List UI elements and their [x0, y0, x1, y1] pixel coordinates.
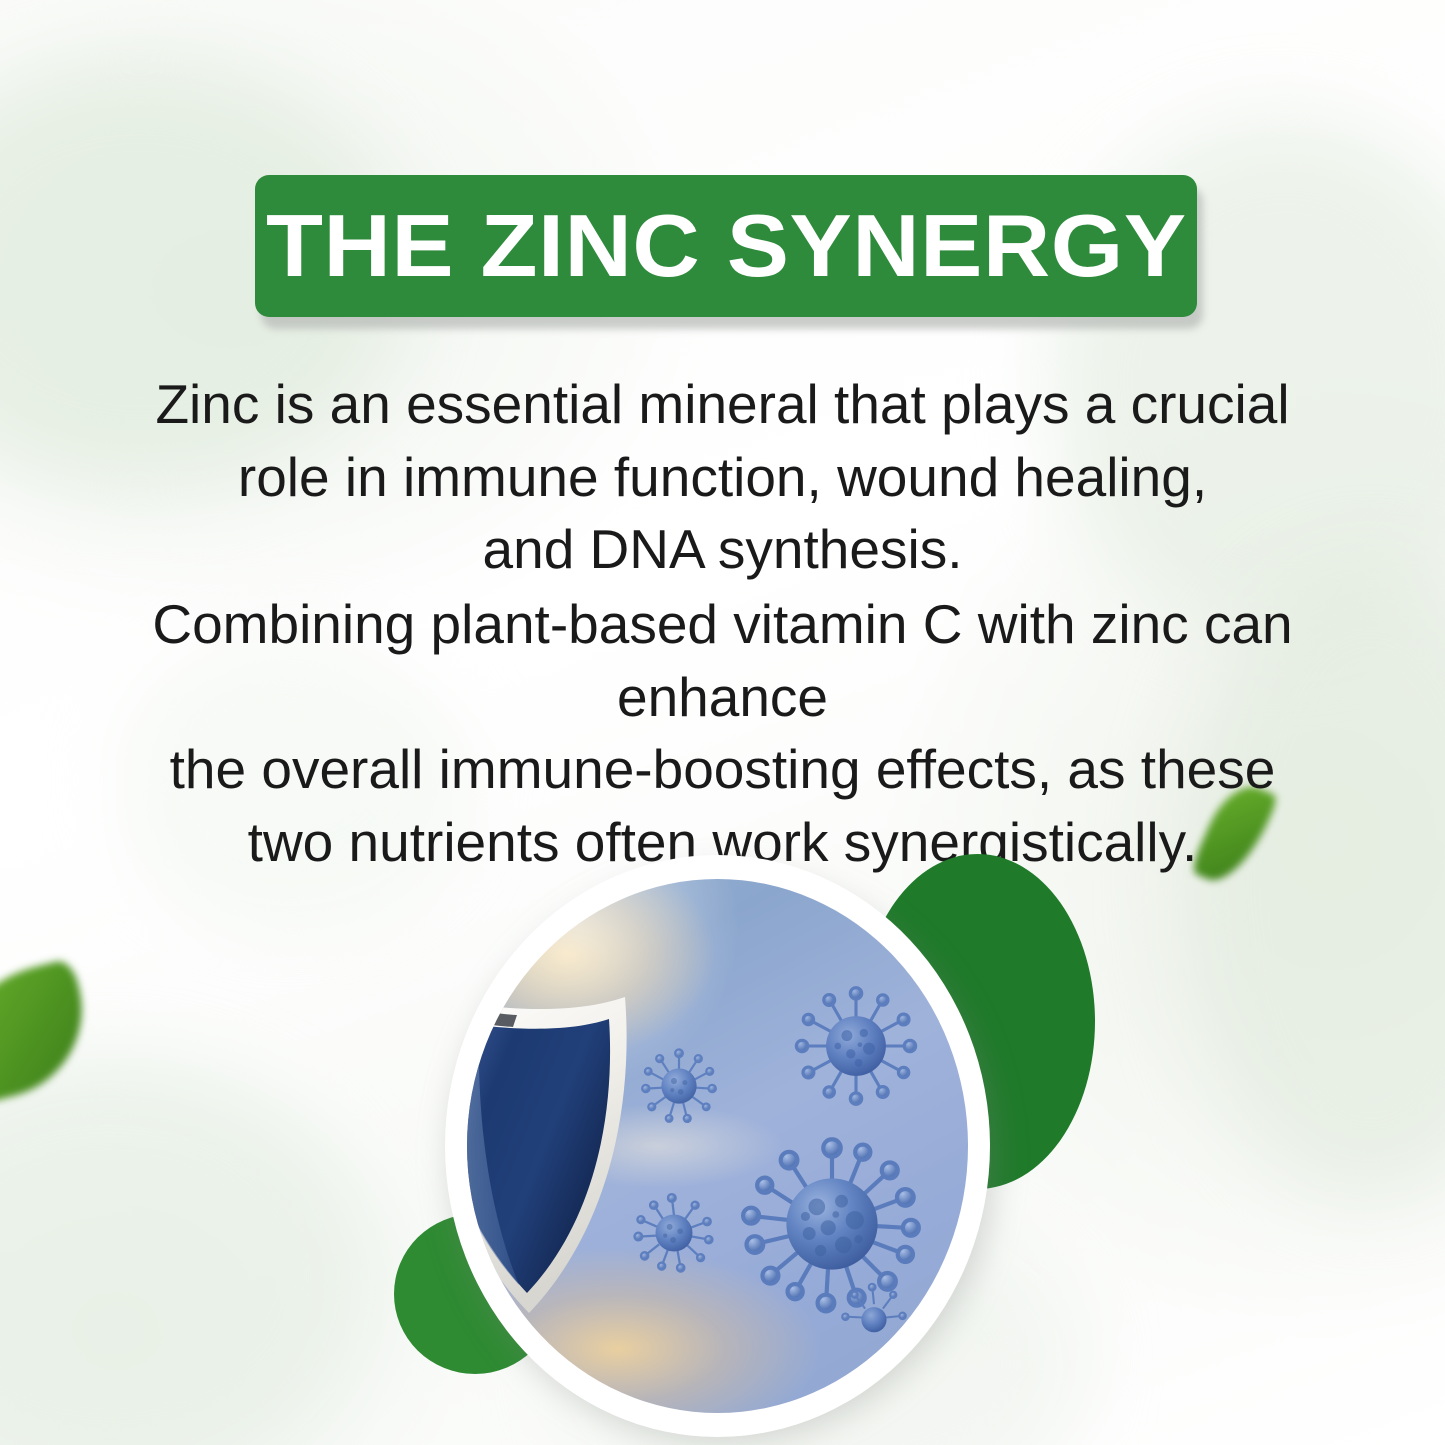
leaf-icon [0, 958, 101, 1106]
hero-illustration [380, 840, 1100, 1445]
virus-particle [837, 1279, 911, 1353]
virus-particle [637, 1044, 721, 1128]
immune-shield-illustration [467, 879, 968, 1413]
virus-particle [630, 1189, 718, 1277]
poster-canvas: THE ZINC SYNERGY Zinc is an essential mi… [0, 0, 1445, 1445]
paragraph-one: Zinc is an essential mineral that plays … [150, 368, 1295, 586]
heading-banner: THE ZINC SYNERGY [255, 175, 1197, 317]
background-blotch [0, 1060, 370, 1445]
page-title: THE ZINC SYNERGY [266, 202, 1187, 290]
image-circle-frame [445, 855, 990, 1437]
virus-particle [791, 981, 921, 1111]
banner-background: THE ZINC SYNERGY [255, 175, 1197, 317]
paragraph-two: Combining plant-based vitamin C with zin… [55, 588, 1390, 878]
